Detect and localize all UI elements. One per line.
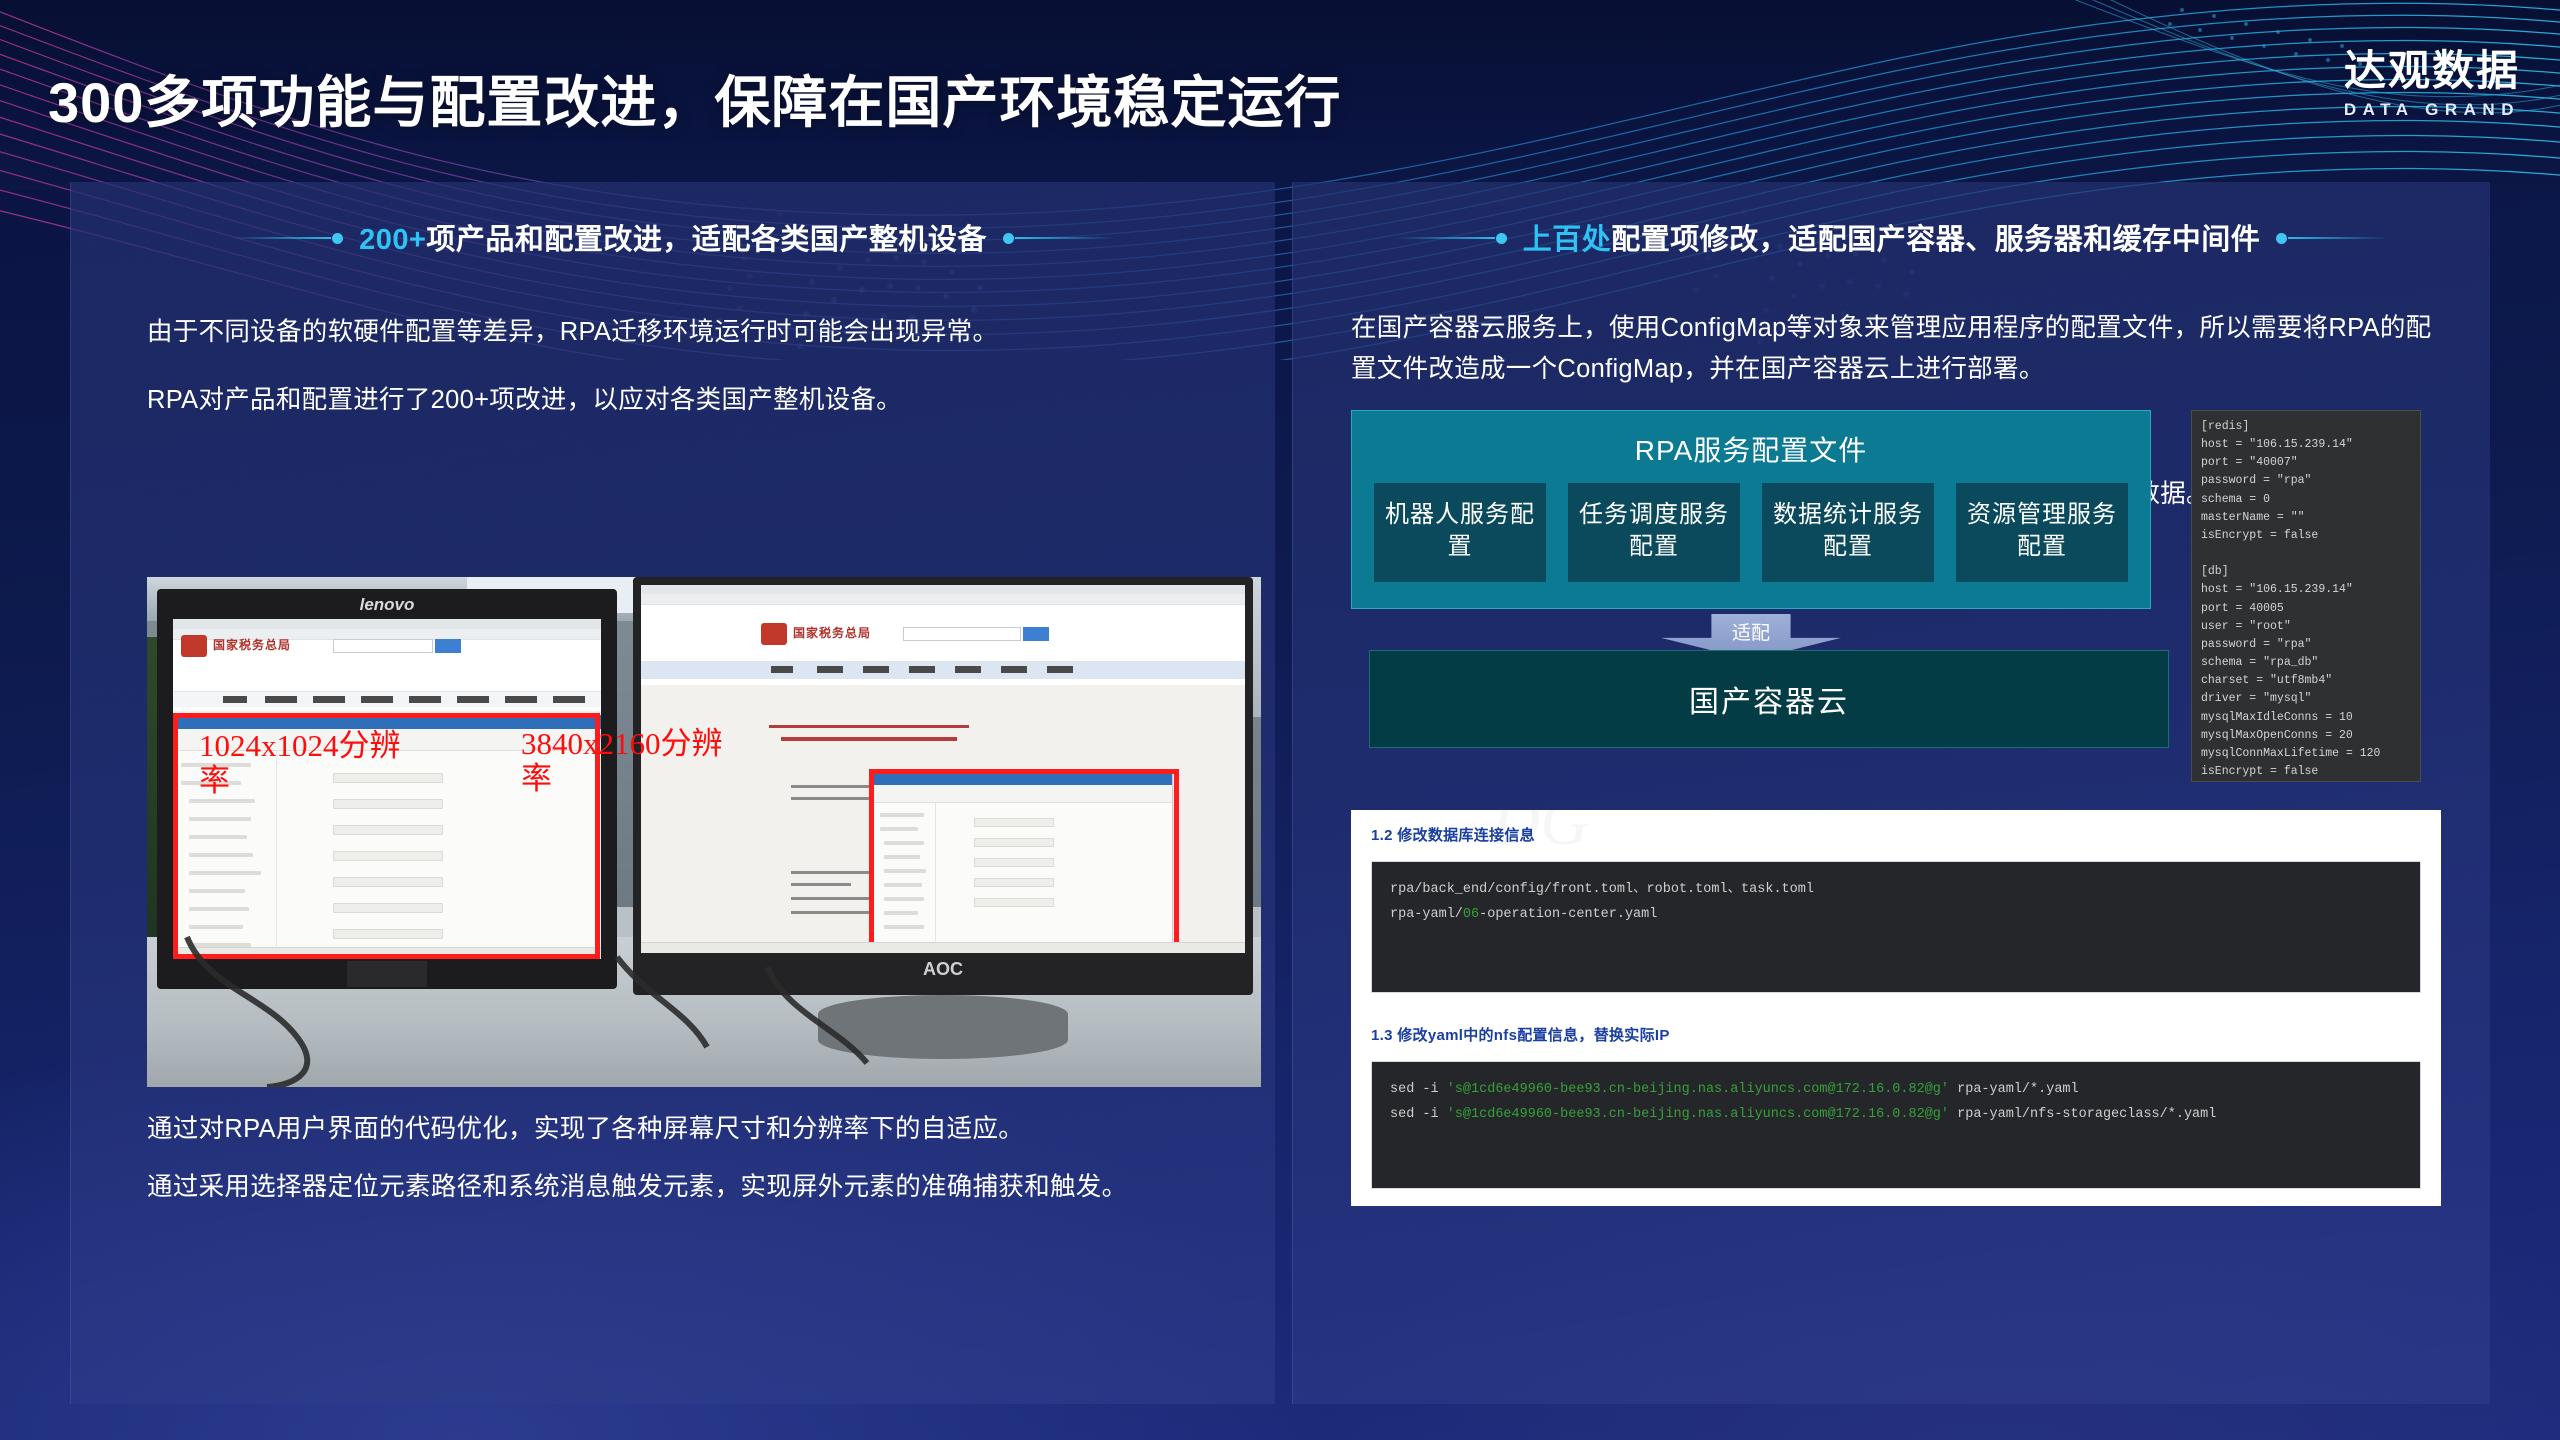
doc-code-1-2: rpa/back_end/config/front.toml、robot.tom… (1371, 861, 2421, 993)
screenshot-highlight-box-right (869, 769, 1179, 951)
doc-code-1-3-line-1-post: rpa-yaml/*.yaml (1949, 1082, 2079, 1097)
tax-bureau-emblem-icon (181, 635, 207, 657)
nav-item[interactable] (817, 666, 843, 673)
site-search-input-right[interactable] (903, 627, 1021, 641)
doc-code-1-3-line-2-pre: sed -i (1390, 1107, 1447, 1122)
header-dot-right-icon (1003, 233, 1014, 244)
workstation-photo: lenovo 国家税务总局 (147, 577, 1261, 1087)
toml-config-block: [redis] host = "106.15.239.14" port = "4… (2191, 410, 2421, 782)
left-section-title: 200+项产品和配置改进，适配各类国产整机设备 (359, 216, 987, 258)
nav-item[interactable] (1001, 666, 1027, 673)
header-rule-left (1395, 236, 1507, 239)
tax-site-header-right: 国家税务总局 (641, 605, 1245, 685)
annotation-resolution-left: 1024x1024分辨率 (199, 729, 429, 798)
nav-item[interactable] (955, 666, 981, 673)
article-body-line (791, 883, 851, 886)
left-footer-paragraph-2: 通过采用选择器定位元素路径和系统消息触发元素，实现屏外元素的准确捕获和触发。 (147, 1167, 1267, 1208)
site-search-button-right[interactable] (1023, 627, 1049, 641)
doc-section-1-3: 1.3 修改yaml中的nfs配置信息，替换实际IP sed -i 's@1cd… (1351, 1010, 2441, 1206)
browser-urlbar-right (641, 594, 1245, 605)
rpa-cell-task-scheduler: 任务调度服务配置 (1568, 483, 1740, 582)
rpa-config-diagram: RPA服务配置文件 机器人服务配置 任务调度服务配置 数据统计服务配置 资源管理… (1351, 410, 2151, 609)
page-title: 300多项功能与配置改进，保障在国产环境稳定运行 (48, 58, 1341, 139)
article-body-line (791, 797, 881, 800)
annotation-resolution-right: 3840x2160分辨率 (521, 727, 751, 796)
browser-tabbar-right (641, 585, 1245, 594)
site-search-button-left[interactable] (435, 639, 461, 653)
doc-code-1-3-line-2-str: 's@1cd6e49960-bee93.cn-beijing.nas.aliyu… (1447, 1107, 1949, 1122)
right-section-title-rest: 配置项修改，适配国产容器、服务器和缓存中间件 (1611, 224, 2260, 256)
header-rule-right (1003, 236, 1115, 239)
left-footer-paragraph-1: 通过对RPA用户界面的代码优化，实现了各种屏幕尺寸和分辨率下的自适应。 (147, 1109, 1247, 1150)
doc-code-1-2-line-2-post: -operation-center.yaml (1479, 907, 1657, 922)
tax-bureau-emblem-icon (761, 623, 787, 645)
doc-code-1-2-line-1: rpa/back_end/config/front.toml、robot.tom… (1390, 882, 1814, 897)
left-section-header: 200+项产品和配置改进，适配各类国产整机设备 (71, 216, 1275, 258)
left-content-panel: 200+项产品和配置改进，适配各类国产整机设备 由于不同设备的软硬件配置等差异，… (70, 182, 1275, 1404)
doc-code-1-2-line-2-pre: rpa-yaml/ (1390, 907, 1463, 922)
nav-item[interactable] (409, 696, 441, 703)
site-navbar-left (173, 691, 601, 707)
doc-section-1-2: DG 1.2 修改数据库连接信息 rpa/back_end/config/fro… (1351, 810, 2441, 1010)
doc-code-1-3: sed -i 's@1cd6e49960-bee93.cn-beijing.na… (1371, 1061, 2421, 1189)
rpa-diagram-cells: 机器人服务配置 任务调度服务配置 数据统计服务配置 资源管理服务配置 (1352, 483, 2150, 608)
site-search-input-left[interactable] (333, 639, 433, 653)
nav-item[interactable] (505, 696, 537, 703)
doc-code-1-3-line-1-pre: sed -i (1390, 1082, 1447, 1097)
doc-code-1-2-line-2-num: 06 (1463, 907, 1479, 922)
header-dot-left-icon (1496, 233, 1507, 244)
left-section-title-highlight: 200+ (359, 224, 426, 256)
photo-cables (147, 927, 1261, 1087)
doc-heading-1-2: 1.2 修改数据库连接信息 (1371, 824, 2441, 845)
right-section-title-highlight: 上百处 (1523, 224, 1612, 256)
nav-item[interactable] (863, 666, 889, 673)
nav-item[interactable] (313, 696, 345, 703)
nav-item[interactable] (1047, 666, 1073, 673)
domestic-container-cloud-box: 国产容器云 (1369, 650, 2169, 748)
rpa-cell-robot-service: 机器人服务配置 (1374, 483, 1546, 582)
left-paragraph-1: 由于不同设备的软硬件配置等差异，RPA迁移环境运行时可能会出现异常。 (147, 312, 1207, 353)
left-section-title-rest: 项产品和配置改进，适配各类国产整机设备 (426, 224, 987, 256)
rpa-cell-data-stats: 数据统计服务配置 (1762, 483, 1934, 582)
rpa-diagram-title: RPA服务配置文件 (1352, 411, 2150, 483)
nav-item[interactable] (909, 666, 935, 673)
logo-chinese-name: 达观数据 (2344, 50, 2520, 92)
right-paragraph-1: 在国产容器云服务上，使用ConfigMap等对象来管理应用程序的配置文件，所以需… (1351, 308, 2441, 391)
left-paragraph-2: RPA对产品和配置进行了200+项改进，以应对各类国产整机设备。 (147, 380, 1207, 421)
article-title-line (769, 725, 969, 728)
right-section-header: 上百处配置项修改，适配国产容器、服务器和缓存中间件 (1293, 216, 2490, 258)
doc-heading-1-3: 1.3 修改yaml中的nfs配置信息，替换实际IP (1371, 1024, 2441, 1045)
logo-english-name: DATA GRAND (2344, 100, 2520, 120)
monitor-left-brand-label: lenovo (360, 595, 415, 615)
header-rule-right (2276, 236, 2388, 239)
nav-item[interactable] (771, 666, 793, 673)
tax-bureau-site-name: 国家税务总局 (793, 624, 871, 641)
doc-code-1-3-line-2-post: rpa-yaml/nfs-storageclass/*.yaml (1949, 1107, 2216, 1122)
tax-bureau-site-name: 国家税务总局 (213, 636, 291, 653)
header-rule-left (231, 236, 343, 239)
right-section-title: 上百处配置项修改，适配国产容器、服务器和缓存中间件 (1523, 216, 2261, 258)
nav-item[interactable] (553, 696, 585, 703)
nav-item[interactable] (265, 696, 297, 703)
nav-item[interactable] (361, 696, 393, 703)
right-content-panel: 上百处配置项修改，适配国产容器、服务器和缓存中间件 在国产容器云服务上，使用Co… (1292, 182, 2490, 1404)
header-dot-left-icon (332, 233, 343, 244)
nav-item[interactable] (457, 696, 489, 703)
rpa-cell-resource-mgmt: 资源管理服务配置 (1956, 483, 2128, 582)
nav-item[interactable] (223, 696, 247, 703)
browser-window-left: 国家税务总局 (173, 619, 601, 711)
article-subtitle-line (781, 737, 957, 741)
doc-code-1-3-line-1-str: 's@1cd6e49960-bee93.cn-beijing.nas.aliyu… (1447, 1082, 1949, 1097)
adapt-arrow-label: 适配 (1661, 618, 1841, 645)
site-navbar-right (641, 661, 1245, 679)
header-dot-right-icon (2276, 233, 2287, 244)
browser-tabbar-left (173, 619, 601, 629)
brand-logo: 达观数据 DATA GRAND (2344, 50, 2520, 120)
